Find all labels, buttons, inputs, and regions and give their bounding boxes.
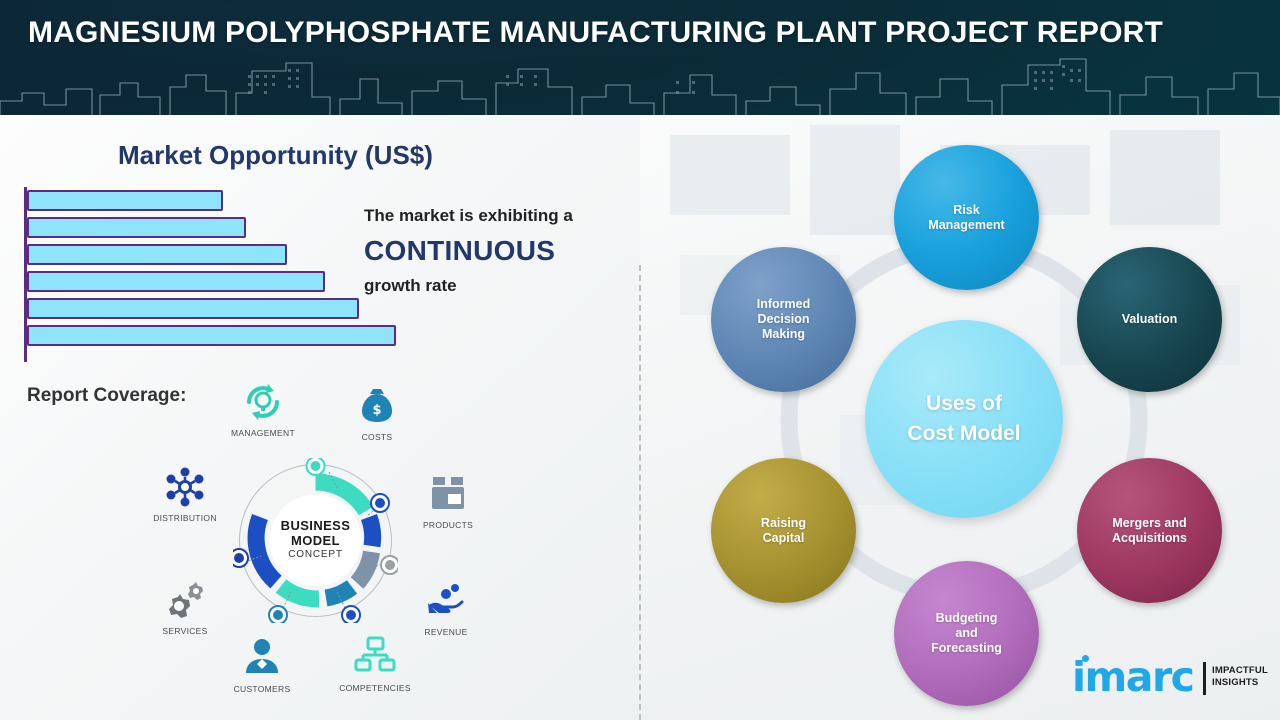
icon-distribution: DISTRIBUTION xyxy=(142,465,228,523)
node-line-1: Risk xyxy=(928,203,1004,218)
bar-row xyxy=(27,325,396,346)
icon-label: MANAGEMENT xyxy=(220,428,306,438)
bar-row xyxy=(27,190,223,211)
uses-of-cost-model-diagram: Uses of Cost Model Risk Management Valua… xyxy=(700,130,1260,705)
logo-divider xyxy=(1203,662,1206,695)
header-banner: MAGNESIUM POLYPHOSPHATE MANUFACTURING PL… xyxy=(0,0,1280,115)
icon-costs: $ COSTS xyxy=(334,384,420,442)
distribution-icon xyxy=(142,465,228,511)
market-opportunity-bar-chart xyxy=(24,187,404,362)
market-growth-note: The market is exhibiting a CONTINUOUS gr… xyxy=(364,203,634,299)
icon-services: SERVICES xyxy=(142,578,228,636)
bar-row xyxy=(27,244,287,265)
node-risk-management[interactable]: Risk Management xyxy=(894,145,1039,290)
market-opportunity-title: Market Opportunity (US$) xyxy=(118,140,433,171)
competencies-icon xyxy=(332,635,418,681)
icon-competencies: COMPETENCIES xyxy=(332,635,418,693)
node-uses-of-cost-model: Uses of Cost Model xyxy=(865,320,1063,518)
logo-tagline-line1: IMPACTFUL xyxy=(1212,665,1268,676)
icon-products: PRODUCTS xyxy=(405,472,491,530)
node-informed-decision-making[interactable]: Informed Decision Making xyxy=(711,247,856,392)
bm-title-line2: MODEL xyxy=(233,533,398,548)
node-line-1: Informed xyxy=(757,297,810,312)
node-line-2: Decision xyxy=(757,312,810,327)
icon-label: PRODUCTS xyxy=(405,520,491,530)
node-line-1: Mergers and xyxy=(1112,516,1187,531)
note-line-1: The market is exhibiting a xyxy=(364,203,634,229)
management-icon xyxy=(220,380,306,426)
icon-label: CUSTOMERS xyxy=(219,684,305,694)
costs-icon: $ xyxy=(334,384,420,430)
customers-icon xyxy=(219,636,305,682)
svg-text:$: $ xyxy=(372,403,381,418)
bm-title-line1: BUSINESS xyxy=(233,518,398,533)
icon-customers: CUSTOMERS xyxy=(219,636,305,694)
icon-revenue: REVENUE xyxy=(403,579,489,637)
slide-root: MAGNESIUM POLYPHOSPHATE MANUFACTURING PL… xyxy=(0,0,1280,720)
node-line-2: and xyxy=(931,626,1002,641)
node-line-3: Making xyxy=(757,327,810,342)
services-icon xyxy=(142,578,228,624)
page-title: MAGNESIUM POLYPHOSPHATE MANUFACTURING PL… xyxy=(28,12,1248,53)
logo-tagline-line2: INSIGHTS xyxy=(1212,677,1258,688)
node-line-1: Budgeting xyxy=(931,611,1002,626)
icon-management: MANAGEMENT xyxy=(220,380,306,438)
node-mergers-acquisitions[interactable]: Mergers and Acquisitions xyxy=(1077,458,1222,603)
bar-row xyxy=(27,298,359,319)
center-line-2: Cost Model xyxy=(907,419,1020,449)
business-model-diagram: BUSINESS MODEL CONCEPT MANAGEMENT xyxy=(150,380,480,700)
icon-label: COMPETENCIES xyxy=(332,683,418,693)
node-valuation[interactable]: Valuation xyxy=(1077,247,1222,392)
node-line-1: Valuation xyxy=(1122,312,1178,327)
node-line-3: Forecasting xyxy=(931,641,1002,656)
node-line-2: Management xyxy=(928,218,1004,233)
business-model-center-label: BUSINESS MODEL CONCEPT xyxy=(233,518,398,562)
revenue-icon xyxy=(403,579,489,625)
icon-label: SERVICES xyxy=(142,626,228,636)
icon-label: COSTS xyxy=(334,432,420,442)
bar-row xyxy=(27,217,246,238)
center-line-1: Uses of xyxy=(907,389,1020,419)
city-skyline-icon xyxy=(0,53,1280,115)
panel-divider xyxy=(639,265,641,720)
bar-row xyxy=(27,271,325,292)
node-line-1: Raising xyxy=(761,516,806,531)
logo-tagline: IMPACTFUL INSIGHTS xyxy=(1212,665,1268,689)
note-line-2: CONTINUOUS xyxy=(364,229,634,273)
node-budgeting-forecasting[interactable]: Budgeting and Forecasting xyxy=(894,561,1039,706)
node-line-2: Acquisitions xyxy=(1112,531,1187,546)
imarc-logo[interactable]: imarc IMPACTFUL INSIGHTS xyxy=(1072,655,1262,701)
node-line-2: Capital xyxy=(761,531,806,546)
node-raising-capital[interactable]: Raising Capital xyxy=(711,458,856,603)
logo-wordmark: imarc xyxy=(1072,657,1193,698)
note-line-3: growth rate xyxy=(364,273,634,299)
bm-subtitle: CONCEPT xyxy=(233,548,398,562)
icon-label: DISTRIBUTION xyxy=(142,513,228,523)
products-icon xyxy=(405,472,491,518)
